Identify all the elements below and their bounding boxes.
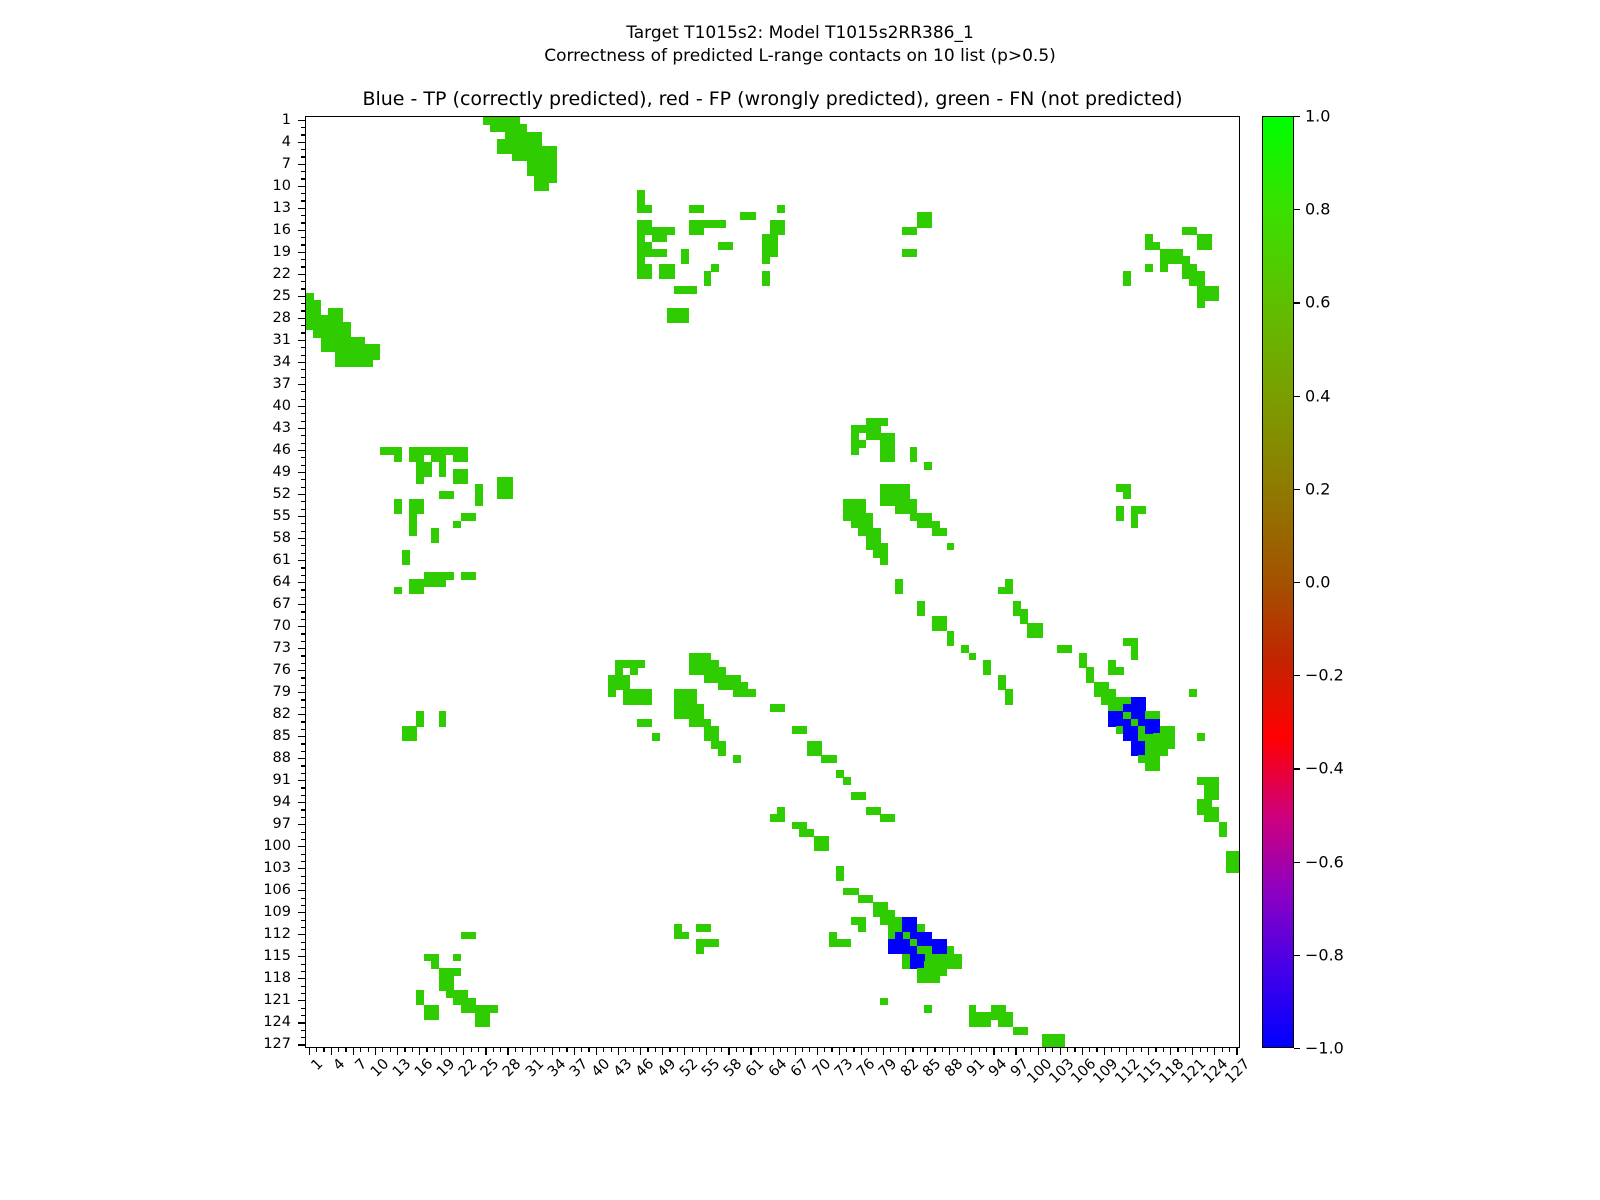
x-tick-major (1214, 1048, 1215, 1055)
x-tick-label: 70 (810, 1056, 834, 1080)
x-tick-major (309, 1048, 310, 1055)
y-tick-minor (301, 127, 305, 128)
contact-cell-fn (475, 499, 483, 507)
x-tick-minor (566, 1048, 567, 1052)
x-tick-minor (500, 1048, 501, 1052)
y-axis-labels: 1471013161922252831343740434649525558616… (0, 116, 300, 1048)
y-tick-minor (301, 663, 305, 664)
y-tick-minor (301, 1030, 305, 1031)
y-tick-minor (301, 575, 305, 576)
x-tick-label: 34 (545, 1056, 569, 1080)
x-tick-major (1015, 1048, 1016, 1055)
contact-cell-fn (969, 653, 977, 661)
x-tick-label: 37 (567, 1056, 591, 1080)
contact-cell-fn (1131, 521, 1139, 529)
x-tick-major (397, 1048, 398, 1055)
contact-cell-fn (733, 755, 741, 763)
y-tick-label: 79 (273, 684, 291, 700)
x-tick-minor (809, 1048, 810, 1052)
contact-cell-fn (1057, 1042, 1065, 1048)
contact-cell-fn (461, 455, 469, 463)
contact-cell-fn (910, 249, 918, 257)
contact-cell-fn (910, 227, 918, 235)
x-tick-major (684, 1048, 685, 1055)
x-axis-labels: 1471013161922252831343740434649525558616… (305, 1056, 1240, 1176)
contact-cell-fn (394, 587, 402, 595)
y-tick-minor (301, 942, 305, 943)
y-tick-minor (301, 288, 305, 289)
x-tick-minor (714, 1048, 715, 1052)
y-tick-minor (301, 178, 305, 179)
contact-cell-fn (880, 418, 888, 426)
y-tick-minor (301, 457, 305, 458)
contact-cell-fn (704, 278, 712, 286)
contact-cell-fn (777, 704, 785, 712)
y-tick-minor (301, 443, 305, 444)
y-tick-minor (301, 377, 305, 378)
contact-cell-fn (924, 220, 932, 228)
y-tick-label: 73 (273, 640, 291, 656)
y-tick-minor (301, 832, 305, 833)
y-tick-label: 13 (273, 200, 291, 216)
x-tick-minor (316, 1048, 317, 1052)
x-tick-major (1236, 1048, 1237, 1055)
y-tick-minor (301, 332, 305, 333)
x-tick-minor (846, 1048, 847, 1052)
y-tick-minor (301, 949, 305, 950)
contact-cell-fn (659, 234, 667, 242)
contact-cell-fn (424, 469, 432, 477)
x-tick-major (640, 1048, 641, 1055)
contact-map-axes[interactable] (305, 116, 1240, 1048)
x-tick-major (905, 1048, 906, 1055)
x-tick-label: 82 (898, 1056, 922, 1080)
x-tick-label: 49 (655, 1056, 679, 1080)
y-tick-minor (301, 751, 305, 752)
x-tick-major (419, 1048, 420, 1055)
colorbar-tick-label: −0.8 (1305, 945, 1344, 964)
y-tick-minor (301, 920, 305, 921)
y-tick-minor (301, 699, 305, 700)
contact-cell-fn (726, 242, 734, 250)
x-tick-label: 40 (589, 1056, 613, 1080)
x-tick-label: 85 (920, 1056, 944, 1080)
x-tick-major (817, 1048, 818, 1055)
contact-cell-fn (623, 682, 631, 690)
y-tick-label: 124 (263, 1014, 291, 1030)
x-tick-minor (603, 1048, 604, 1052)
contact-cell-fn (1204, 242, 1212, 250)
contact-cell-fn (1116, 513, 1124, 521)
colorbar-tick (1294, 302, 1300, 303)
contact-cell-fn (696, 205, 704, 213)
y-tick-minor (301, 905, 305, 906)
x-tick-major (861, 1048, 862, 1055)
y-tick-minor (301, 655, 305, 656)
contact-cell-fn (505, 491, 513, 499)
x-tick-major (507, 1048, 508, 1055)
y-tick-minor (301, 883, 305, 884)
y-tick-label: 64 (273, 574, 291, 590)
x-tick-minor (493, 1048, 494, 1052)
contact-cell-fn (645, 719, 653, 727)
y-tick-label: 58 (273, 530, 291, 546)
contact-cell-fn (446, 491, 454, 499)
x-tick-minor (890, 1048, 891, 1052)
contact-cell-fn (924, 1005, 932, 1013)
contact-cell-fn (1131, 653, 1139, 661)
y-tick-minor (301, 685, 305, 686)
y-tick-minor (301, 303, 305, 304)
x-tick-minor (345, 1048, 346, 1052)
y-tick-minor (301, 347, 305, 348)
x-tick-minor (588, 1048, 589, 1052)
x-tick-minor (611, 1048, 612, 1052)
contact-cell-fn (1005, 587, 1013, 595)
x-tick-major (883, 1048, 884, 1055)
y-tick-minor (301, 795, 305, 796)
y-tick-minor (301, 677, 305, 678)
contact-cell-fn (1131, 638, 1139, 646)
contact-cell-fn (681, 932, 689, 940)
x-tick-minor (1155, 1048, 1156, 1052)
contact-cell-fn (888, 814, 896, 822)
y-tick-minor (301, 171, 305, 172)
y-tick-label: 28 (273, 310, 291, 326)
x-tick-major (662, 1048, 663, 1055)
x-tick-minor (787, 1048, 788, 1052)
y-tick-label: 34 (273, 354, 291, 370)
colorbar (1262, 116, 1294, 1048)
x-tick-label: 7 (352, 1056, 370, 1074)
contact-cell-fn (932, 976, 940, 984)
x-tick-minor (625, 1048, 626, 1052)
x-tick-minor (559, 1048, 560, 1052)
y-tick-minor (301, 399, 305, 400)
contact-cell-fn (409, 733, 417, 741)
x-tick-minor (957, 1048, 958, 1052)
x-tick-label: 4 (330, 1056, 348, 1074)
y-tick-label: 16 (273, 222, 291, 238)
contact-cell-fn (372, 352, 380, 360)
y-tick-minor (301, 523, 305, 524)
contact-cell-fn (777, 227, 785, 235)
y-tick-label: 94 (273, 794, 291, 810)
x-tick-minor (1111, 1048, 1112, 1052)
x-tick-major (574, 1048, 575, 1055)
y-tick-label: 4 (282, 134, 291, 150)
x-tick-minor (382, 1048, 383, 1052)
contact-cell-fn (880, 557, 888, 565)
contact-cell-fn (608, 689, 616, 697)
contact-cell-fn (1153, 763, 1161, 771)
x-tick-label: 127 (1223, 1056, 1254, 1087)
contact-cell-fn (313, 330, 321, 338)
x-tick-minor (765, 1048, 766, 1052)
x-tick-minor (449, 1048, 450, 1052)
y-tick-minor (301, 281, 305, 282)
x-tick-minor (434, 1048, 435, 1052)
contact-cell-fn (939, 528, 947, 536)
contact-cell-fn (718, 748, 726, 756)
x-tick-minor (544, 1048, 545, 1052)
colorbar-tick-label: −0.2 (1305, 666, 1344, 685)
colorbar-tick-label: 0.2 (1305, 479, 1330, 498)
y-tick-minor (301, 200, 305, 201)
contact-cell-fn (851, 447, 859, 455)
x-tick-minor (1067, 1048, 1068, 1052)
x-tick-minor (802, 1048, 803, 1052)
y-tick-minor (301, 531, 305, 532)
contact-cell-fn (689, 286, 697, 294)
x-tick-major (618, 1048, 619, 1055)
contact-cell-fn (1116, 667, 1124, 675)
x-tick-minor (780, 1048, 781, 1052)
contact-cell-fn (762, 256, 770, 264)
x-tick-major (375, 1048, 376, 1055)
contact-cell-fn (453, 954, 461, 962)
y-tick-label: 43 (273, 420, 291, 436)
y-tick-label: 52 (273, 486, 291, 502)
colorbar-tick (1294, 1048, 1300, 1049)
y-tick-minor (301, 310, 305, 311)
x-tick-minor (515, 1048, 516, 1052)
contact-cell-fn (829, 755, 837, 763)
figure-root: Target T1015s2: Model T1015s2RR386_1 Cor… (0, 0, 1600, 1200)
x-tick-label: 1 (308, 1056, 326, 1074)
contact-cell-fn (843, 939, 851, 947)
y-tick-minor (301, 597, 305, 598)
x-tick-minor (912, 1048, 913, 1052)
x-tick-major (441, 1048, 442, 1055)
x-tick-label: 79 (876, 1056, 900, 1080)
x-tick-minor (1200, 1048, 1201, 1052)
contact-cell-fn (939, 968, 947, 976)
contact-cell-fn (335, 315, 343, 323)
contact-cell-fn (505, 146, 513, 154)
y-tick-label: 49 (273, 464, 291, 480)
x-tick-minor (1045, 1048, 1046, 1052)
y-tick-minor (301, 487, 305, 488)
contact-cell-fn (483, 117, 491, 125)
contact-cell-fn (983, 667, 991, 675)
contact-cell-fn (1212, 792, 1220, 800)
colorbar-tick (1294, 209, 1300, 210)
contact-cell-fn (947, 543, 955, 551)
contact-cell-fn (1035, 631, 1043, 639)
y-tick-minor (301, 465, 305, 466)
y-tick-minor (301, 898, 305, 899)
y-tick-label: 118 (263, 970, 291, 986)
contact-cell-fn (1020, 1027, 1028, 1035)
contact-cell-fn (468, 513, 476, 521)
x-tick-major (750, 1048, 751, 1055)
colorbar-tick (1294, 955, 1300, 956)
y-tick-label: 61 (273, 552, 291, 568)
contact-cell-fn (659, 249, 667, 257)
contact-cell-fn (439, 469, 447, 477)
colorbar-tick (1294, 768, 1300, 769)
y-tick-label: 25 (273, 288, 291, 304)
contact-cell-fn (696, 946, 704, 954)
contact-cell-fn (1212, 293, 1220, 301)
contact-cell-fn (1160, 748, 1168, 756)
x-tick-major (1148, 1048, 1149, 1055)
contact-cell-fn (770, 249, 778, 257)
y-tick-label: 115 (263, 948, 291, 964)
x-tick-major (530, 1048, 531, 1055)
colorbar-tick-label: 0.8 (1305, 200, 1330, 219)
contact-cell-fn (674, 932, 682, 940)
y-tick-minor (301, 1015, 305, 1016)
colorbar-tick-label: −0.4 (1305, 759, 1344, 778)
x-tick-label: 73 (832, 1056, 856, 1080)
y-tick-label: 46 (273, 442, 291, 458)
x-tick-minor (655, 1048, 656, 1052)
contact-cell-fn (1167, 741, 1175, 749)
y-tick-minor (301, 421, 305, 422)
y-tick-label: 106 (263, 882, 291, 898)
x-tick-minor (412, 1048, 413, 1052)
colorbar-tick (1294, 116, 1300, 117)
contact-cell-fn (416, 587, 424, 595)
x-tick-label: 46 (633, 1056, 657, 1080)
contact-cell-fn (924, 462, 932, 470)
contact-cell-fn (402, 557, 410, 565)
x-tick-minor (699, 1048, 700, 1052)
x-tick-minor (692, 1048, 693, 1052)
contact-cell-fn (461, 990, 469, 998)
x-tick-minor (1074, 1048, 1075, 1052)
contact-cell-fn (1234, 851, 1240, 859)
x-tick-label: 28 (500, 1056, 524, 1080)
colorbar-tick (1294, 862, 1300, 863)
y-tick-label: 103 (263, 860, 291, 876)
x-tick-minor (1089, 1048, 1090, 1052)
contact-cell-fn (1086, 675, 1094, 683)
x-tick-minor (743, 1048, 744, 1052)
contact-cell-fn (858, 792, 866, 800)
x-tick-major (596, 1048, 597, 1055)
x-tick-minor (721, 1048, 722, 1052)
contact-cell-fn (777, 814, 785, 822)
x-tick-label: 13 (390, 1056, 414, 1080)
y-tick-minor (301, 986, 305, 987)
colorbar-tick-label: −1.0 (1305, 1039, 1344, 1058)
contact-cell-fn (1064, 645, 1072, 653)
contact-cell-fn (461, 477, 469, 485)
contact-cell-fn (652, 733, 660, 741)
contact-cell-fn (468, 572, 476, 580)
contact-cell-fn (453, 968, 461, 976)
y-tick-minor (301, 545, 305, 546)
y-tick-minor (301, 215, 305, 216)
y-tick-label: 112 (263, 926, 291, 942)
x-tick-major (1060, 1048, 1061, 1055)
y-tick-minor (301, 567, 305, 568)
x-tick-major (1038, 1048, 1039, 1055)
x-tick-minor (1185, 1048, 1186, 1052)
x-tick-minor (1133, 1048, 1134, 1052)
x-tick-minor (876, 1048, 877, 1052)
y-tick-label: 31 (273, 332, 291, 348)
x-tick-major (1126, 1048, 1127, 1055)
contact-cell-fn (829, 939, 837, 947)
contact-cell-fn (748, 689, 756, 697)
y-tick-minor (301, 729, 305, 730)
contact-cell-fn (1219, 829, 1227, 837)
x-tick-minor (404, 1048, 405, 1052)
x-tick-major (949, 1048, 950, 1055)
x-tick-minor (1229, 1048, 1230, 1052)
x-tick-major (971, 1048, 972, 1055)
y-tick-label: 121 (263, 992, 291, 1008)
x-tick-major (927, 1048, 928, 1055)
y-tick-label: 37 (273, 376, 291, 392)
y-tick-minor (301, 237, 305, 238)
y-tick-minor (301, 222, 305, 223)
contact-cell-fn (394, 506, 402, 514)
contact-cell-fn (954, 961, 962, 969)
contact-cell-fn (1234, 866, 1240, 874)
x-tick-minor (368, 1048, 369, 1052)
title-line-2: Correctness of predicted L-range contact… (0, 45, 1600, 68)
contact-cell-fn (1197, 733, 1205, 741)
x-tick-minor (426, 1048, 427, 1052)
contact-cell-fn (446, 968, 454, 976)
x-tick-minor (677, 1048, 678, 1052)
y-tick-minor (301, 707, 305, 708)
y-tick-label: 55 (273, 508, 291, 524)
y-tick-label: 127 (263, 1036, 291, 1052)
contact-cell-fn (416, 477, 424, 485)
y-tick-minor (301, 156, 305, 157)
x-tick-major (1104, 1048, 1105, 1055)
contact-cell-fn (873, 433, 881, 441)
contact-cell-fn (431, 535, 439, 543)
y-tick-minor (301, 1037, 305, 1038)
y-tick-minor (301, 1008, 305, 1009)
y-tick-minor (301, 435, 305, 436)
y-tick-minor (301, 134, 305, 135)
x-tick-label: 16 (412, 1056, 436, 1080)
y-tick-minor (301, 817, 305, 818)
x-tick-label: 61 (743, 1056, 767, 1080)
y-tick-minor (301, 861, 305, 862)
contact-map-cells (306, 117, 1239, 1047)
y-tick-minor (301, 839, 305, 840)
y-tick-minor (301, 501, 305, 502)
x-tick-major (1170, 1048, 1171, 1055)
x-tick-minor (647, 1048, 648, 1052)
y-tick-minor (301, 876, 305, 877)
x-tick-major (728, 1048, 729, 1055)
y-tick-minor (301, 244, 305, 245)
x-tick-minor (478, 1048, 479, 1052)
colorbar-tick-label: 0.6 (1305, 293, 1330, 312)
x-tick-major (795, 1048, 796, 1055)
contact-cell-fn (681, 315, 689, 323)
x-tick-minor (853, 1048, 854, 1052)
contact-cell-fn (416, 506, 424, 514)
x-tick-minor (1008, 1048, 1009, 1052)
x-tick-minor (390, 1048, 391, 1052)
x-tick-minor (338, 1048, 339, 1052)
contact-cell-fn (947, 638, 955, 646)
contact-cell-fn (910, 455, 918, 463)
x-tick-major (552, 1048, 553, 1055)
contact-cell-fn (1138, 506, 1146, 514)
